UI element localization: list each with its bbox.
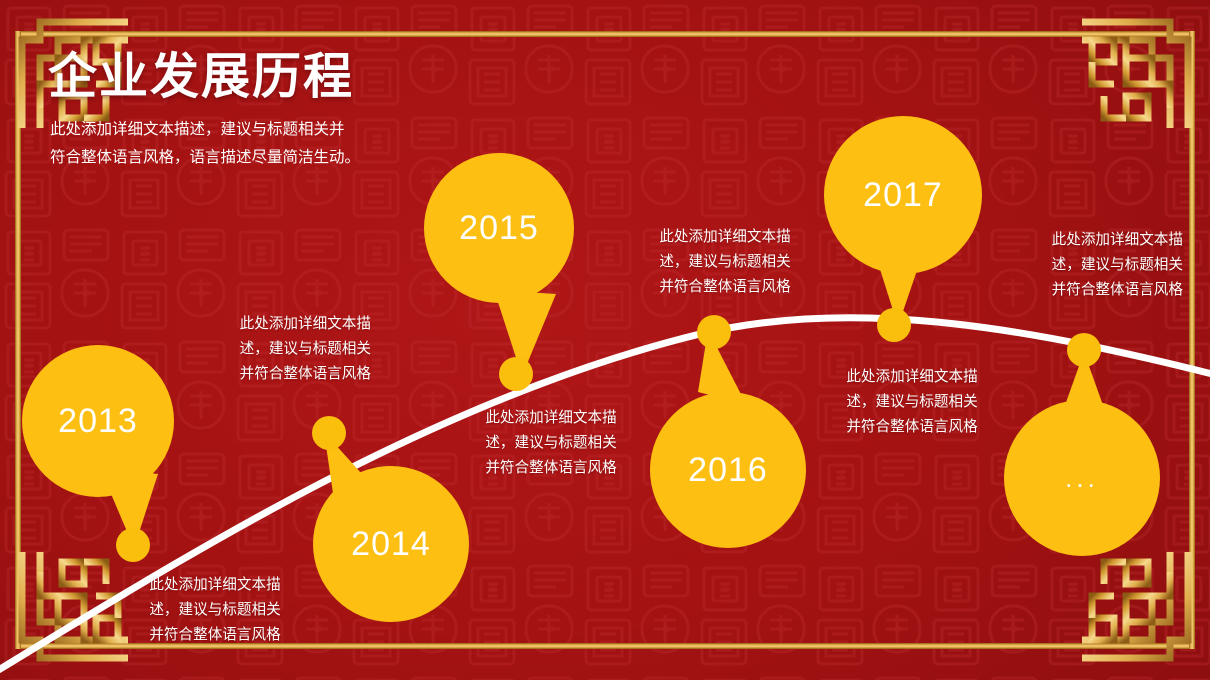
frame-line-top <box>15 31 1195 37</box>
milestone-label-next: ... <box>1065 465 1099 491</box>
presentation-slide: 企业发展历程 此处添加详细文本描述，建议与标题相关并 符合整体语言风格，语言描述… <box>0 0 1210 680</box>
timeline-node-2017[interactable] <box>877 308 911 342</box>
timeline-node-2016[interactable] <box>697 315 731 349</box>
page-title: 企业发展历程 <box>48 52 360 104</box>
milestone-note-2013: 此处添加详细文本描 述，建议与标题相关 并符合整体语言风格 <box>127 573 303 648</box>
milestone-label-2014: 2014 <box>351 527 431 561</box>
milestone-bubble-2015[interactable]: 2015 <box>424 153 574 303</box>
milestone-note-next: 此处添加详细文本描 述，建议与标题相关 并符合整体语言风格 <box>1005 228 1183 303</box>
milestone-label-2017: 2017 <box>863 178 943 212</box>
slide-header: 企业发展历程 此处添加详细文本描述，建议与标题相关并 符合整体语言风格，语言描述… <box>48 52 360 171</box>
milestone-label-2013: 2013 <box>58 404 138 438</box>
milestone-note-2016: 此处添加详细文本描 述，建议与标题相关 并符合整体语言风格 <box>636 225 814 300</box>
milestone-note-2014: 此处添加详细文本描 述，建议与标题相关 并符合整体语言风格 <box>463 406 639 481</box>
timeline-node-2015[interactable] <box>499 357 533 391</box>
milestone-bubble-2017[interactable]: 2017 <box>824 116 982 274</box>
milestone-label-2015: 2015 <box>459 211 539 245</box>
timeline-node-2014[interactable] <box>312 416 346 450</box>
page-subtitle: 此处添加详细文本描述，建议与标题相关并 符合整体语言风格，语言描述尽量简洁生动。 <box>50 116 360 171</box>
milestone-bubble-2014[interactable]: 2014 <box>313 466 469 622</box>
milestone-bubble-2013[interactable]: 2013 <box>22 345 174 497</box>
timeline-node-next[interactable] <box>1067 333 1101 367</box>
frame-line-right <box>1189 31 1195 649</box>
chinese-fret-corner-icon-bottom-right <box>1082 552 1210 680</box>
milestone-bubble-next[interactable]: ... <box>1004 400 1160 556</box>
milestone-label-2016: 2016 <box>688 453 768 487</box>
milestone-note-2015: 此处添加详细文本描 述，建议与标题相关 并符合整体语言风格 <box>193 312 371 387</box>
milestone-note-2017: 此处添加详细文本描 述，建议与标题相关 并符合整体语言风格 <box>823 365 1001 440</box>
timeline-node-2013[interactable] <box>116 528 150 562</box>
milestone-bubble-2016[interactable]: 2016 <box>650 392 806 548</box>
chinese-fret-corner-icon-top-right <box>1082 0 1210 128</box>
chinese-fret-corner-icon-bottom-left <box>0 552 128 680</box>
frame-line-left <box>15 31 21 649</box>
